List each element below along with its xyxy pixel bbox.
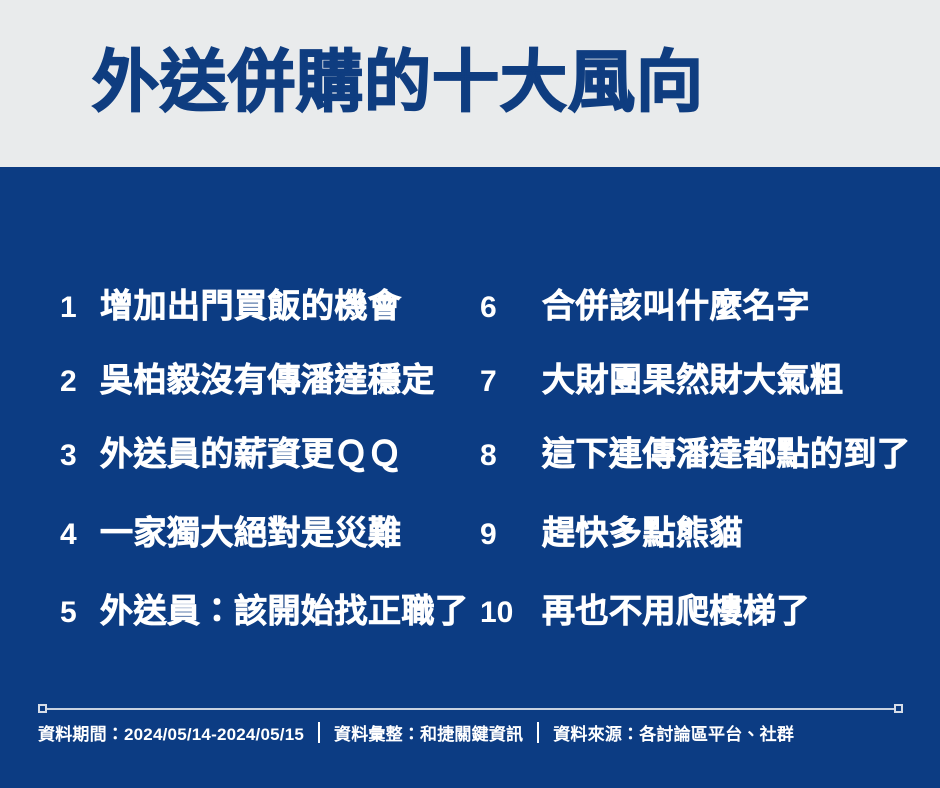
footer-credits: 資料期間：2024/05/14-2024/05/15 資料彙整：和捷關鍵資訊 資…: [38, 720, 908, 745]
list-item-number: 4: [60, 518, 100, 552]
list-item-number: 9: [480, 518, 542, 552]
list-item: 3 外送員的薪資更ＱＱ: [60, 427, 402, 475]
list-item-number: 7: [480, 365, 542, 399]
footer-divider: [38, 703, 903, 714]
list-item-label: 大財團果然財大氣粗: [542, 353, 844, 401]
list-item-label: 趕快多點熊貓: [542, 506, 743, 554]
list-item-label: 外送員：該開始找正職了: [100, 584, 469, 632]
list-item-number: 1: [60, 291, 100, 325]
list-item-label: 合併該叫什麼名字: [542, 279, 810, 327]
data-compiler-label: 資料彙整：和捷關鍵資訊: [334, 720, 523, 745]
list-item-label: 一家獨大絕對是災難: [100, 506, 402, 554]
infographic-poster: 外送併購的十大風向 1 增加出門買飯的機會 2 吳柏毅沒有傳潘達穩定 3 外送員…: [0, 0, 940, 788]
list-item-label: 增加出門買飯的機會: [100, 279, 402, 327]
list-item-number: 6: [480, 291, 542, 325]
footer-separator: [537, 722, 539, 743]
footer: 資料期間：2024/05/14-2024/05/15 資料彙整：和捷關鍵資訊 資…: [0, 690, 940, 788]
list-item: 7 大財團果然財大氣粗: [480, 353, 844, 401]
list-item-label: 外送員的薪資更ＱＱ: [100, 427, 402, 475]
list-item-label: 吳柏毅沒有傳潘達穩定: [100, 353, 435, 401]
list-item: 9 趕快多點熊貓: [480, 506, 743, 554]
list-item: 10 再也不用爬樓梯了: [480, 584, 810, 632]
footer-separator: [318, 722, 320, 743]
list-item: 1 增加出門買飯的機會: [60, 279, 402, 327]
list-item-number: 8: [480, 439, 542, 473]
list-item: 6 合併該叫什麼名字: [480, 279, 810, 327]
data-period-label: 資料期間：2024/05/14-2024/05/15: [38, 720, 304, 745]
square-cap-left-icon: [38, 704, 47, 713]
list-item: 4 一家獨大絕對是災難: [60, 506, 402, 554]
list-item-number: 5: [60, 596, 100, 630]
list-item-label: 再也不用爬樓梯了: [542, 584, 810, 632]
list-item: 8 這下連傳潘達都點的到了: [480, 427, 911, 475]
list-item-number: 3: [60, 439, 100, 473]
data-source-label: 資料來源：各討論區平台、社群: [553, 720, 794, 745]
divider-line: [47, 708, 894, 710]
list-item: 2 吳柏毅沒有傳潘達穩定: [60, 353, 435, 401]
square-cap-right-icon: [894, 704, 903, 713]
list-item-number: 10: [480, 596, 542, 630]
list-item-label: 這下連傳潘達都點的到了: [542, 427, 911, 475]
list-item: 5 外送員：該開始找正職了: [60, 584, 469, 632]
list-item-number: 2: [60, 365, 100, 399]
page-title: 外送併購的十大風向: [92, 48, 704, 118]
header-band: 外送併購的十大風向: [0, 0, 940, 167]
